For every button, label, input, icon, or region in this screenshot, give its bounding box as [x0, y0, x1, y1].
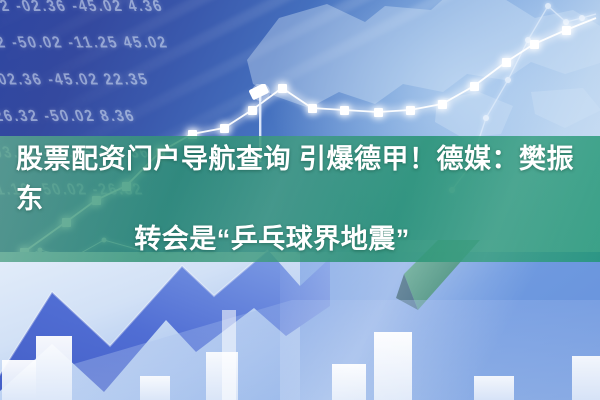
headline-line-2: 转会是“乒乓球界地震”	[16, 219, 584, 259]
headline-line-1: 股票配资门户导航查询 引爆德甲！德媒：樊振东	[16, 139, 584, 219]
bar	[140, 376, 170, 400]
bar	[36, 336, 72, 400]
white-sliver	[222, 310, 236, 400]
bar	[2, 360, 36, 400]
headline-block: 股票配资门户导航查询 引爆德甲！德媒：樊振东 转会是“乒乓球界地震”	[0, 136, 600, 262]
ground-light-beam	[280, 240, 600, 400]
banner-image: -02.36 -11.25 -45.02 21.36 -50.02 -02.36…	[0, 0, 600, 400]
